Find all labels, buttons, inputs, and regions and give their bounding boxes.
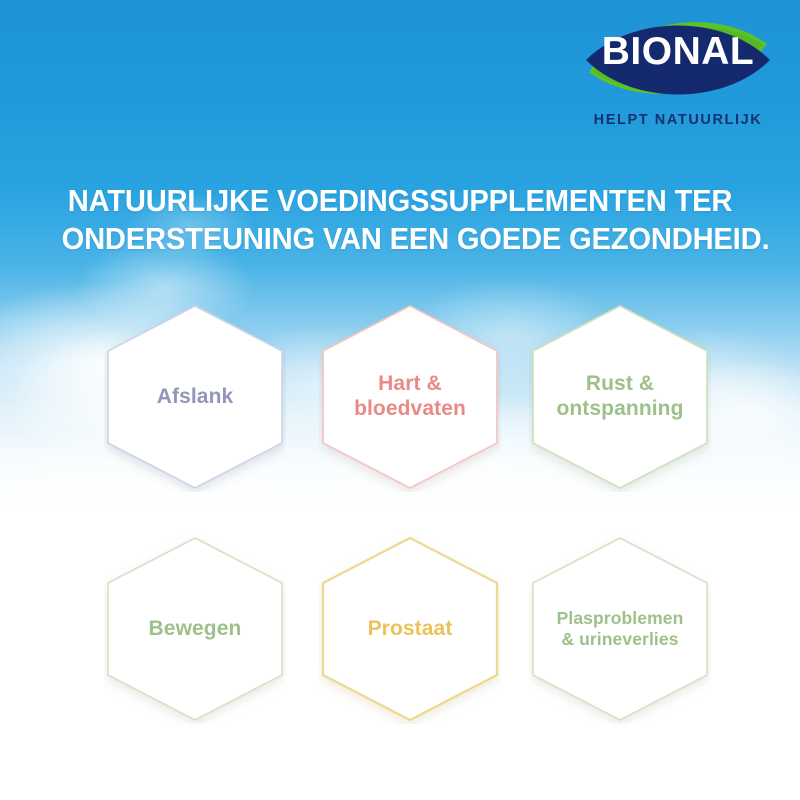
- category-label-line-1: Prostaat: [368, 617, 453, 640]
- category-label: Plasproblemen & urineverlies: [551, 608, 690, 649]
- category-label: Bewegen: [137, 617, 254, 642]
- category-hex-afslank[interactable]: Afslank: [104, 302, 286, 492]
- category-hex-hart-bloedvaten[interactable]: Hart & bloedvaten: [319, 302, 501, 492]
- category-hex-plasproblemen-urineverlies[interactable]: Plasproblemen & urineverlies: [529, 534, 711, 724]
- category-hexagon-grid: Afslank Hart & bloedvaten: [0, 0, 800, 800]
- category-hex-rust-ontspanning[interactable]: Rust & ontspanning: [529, 302, 711, 492]
- category-label-line-1: Afslank: [157, 385, 234, 408]
- category-label-line-1: Hart &: [378, 372, 442, 395]
- category-label-line-1: Plasproblemen: [557, 608, 684, 628]
- category-label-line-1: Rust &: [586, 372, 654, 395]
- banner-canvas: BIONAL HELPT NATUURLIJK NATUURLIJKE VOED…: [0, 0, 800, 800]
- category-label: Prostaat: [356, 617, 465, 642]
- category-hex-bewegen[interactable]: Bewegen: [104, 534, 286, 724]
- category-hex-prostaat[interactable]: Prostaat: [319, 534, 501, 724]
- category-label-line-2: bloedvaten: [354, 397, 466, 420]
- category-label: Hart & bloedvaten: [342, 372, 478, 422]
- category-label-line-2: & urineverlies: [561, 629, 678, 649]
- category-label-line-1: Bewegen: [149, 617, 242, 640]
- category-label-line-2: ontspanning: [556, 397, 683, 420]
- category-label: Afslank: [145, 385, 246, 410]
- category-label: Rust & ontspanning: [544, 372, 695, 422]
